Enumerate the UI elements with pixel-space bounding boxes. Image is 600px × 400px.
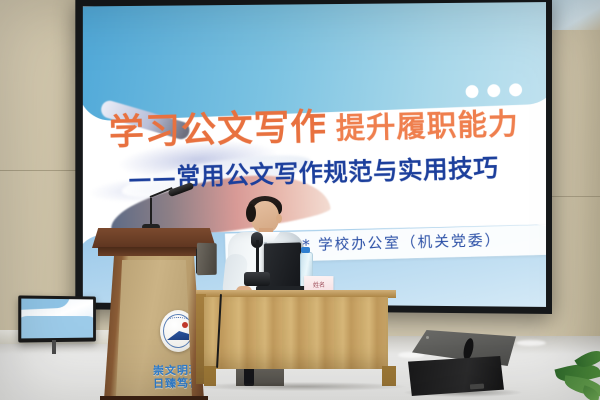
podium-lip xyxy=(98,247,210,256)
confidence-monitor xyxy=(18,295,96,342)
monitor-slide-top xyxy=(21,299,71,311)
floor-reflection xyxy=(516,340,546,346)
desk-front-panel xyxy=(204,297,388,369)
lecture-hall-photo: 学习公文写作提升履职能力 ——常用公文写作规范与实用技巧 江 ** 学校办公室（… xyxy=(0,0,600,400)
bottle-cap xyxy=(301,247,310,253)
desk xyxy=(196,290,396,386)
podium-base xyxy=(100,396,208,400)
speaker-handle-slot xyxy=(462,337,475,360)
name-card-text: 姓名 xyxy=(308,280,330,289)
desk-side-monitor xyxy=(197,243,217,276)
person-ear xyxy=(276,214,282,223)
monitor-slide-bottom xyxy=(21,316,93,339)
desk-mic-stem xyxy=(256,240,259,274)
confidence-monitor-screen xyxy=(21,299,93,339)
wall-seam xyxy=(0,170,78,171)
desk-mic-base xyxy=(244,272,270,286)
podium-front-panel: 崇文明理 日臻笃行 xyxy=(116,260,192,398)
slide-title-main: 学习公文写作 xyxy=(108,104,327,153)
monitor-stand xyxy=(52,340,56,354)
crest-accent xyxy=(182,322,188,328)
speaker-logo xyxy=(470,384,484,390)
speaker-screw xyxy=(426,336,429,339)
speaker-front-grille xyxy=(408,356,504,396)
slide-title-second: 提升履职能力 xyxy=(336,107,520,147)
desk-floor-shadow xyxy=(196,382,406,391)
stage-monitor-speaker xyxy=(408,330,518,394)
person-hair-side xyxy=(246,204,256,222)
